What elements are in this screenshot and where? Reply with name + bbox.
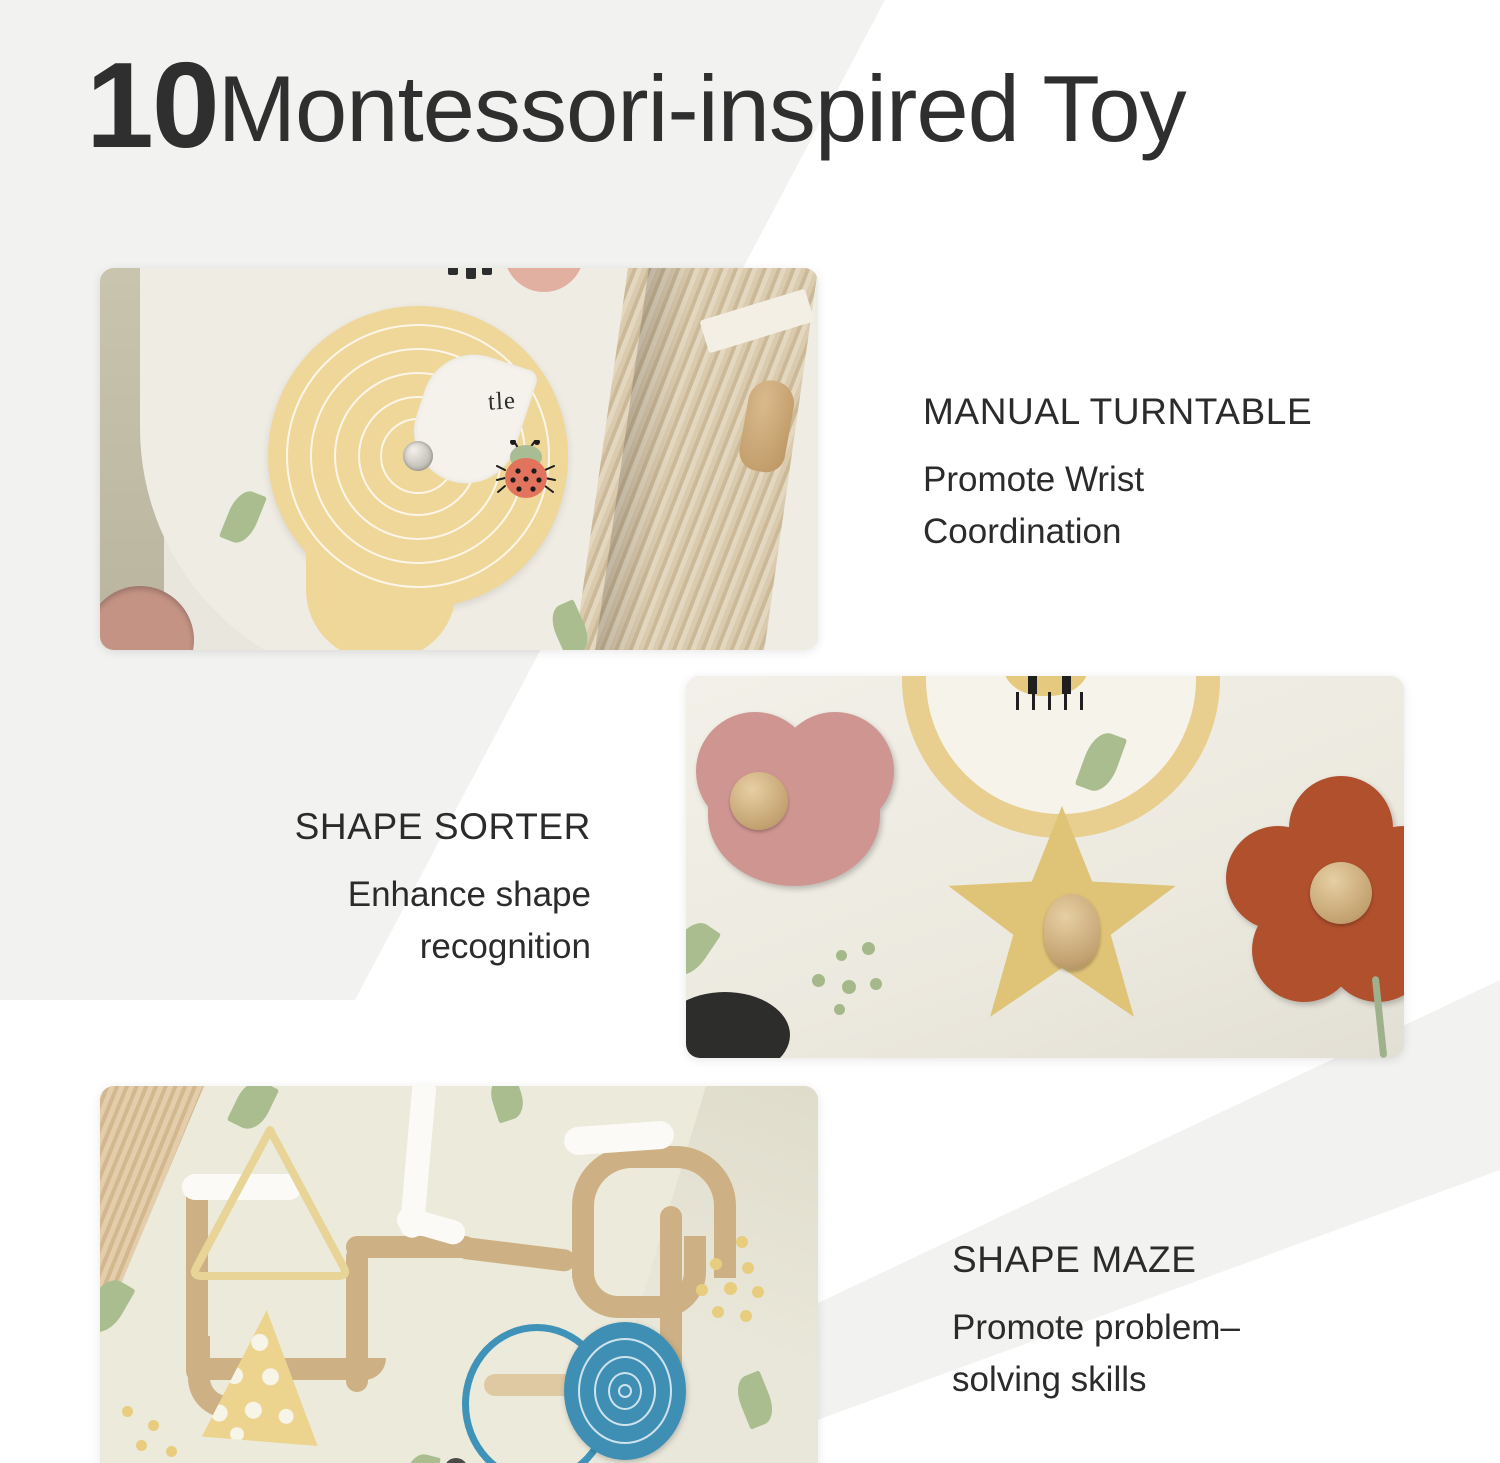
caption-manual-turntable: MANUAL TURNTABLE Promote Wrist Coordinat… xyxy=(923,390,1312,555)
bee-leg-4 xyxy=(1064,692,1067,710)
blue-spiral-disc-piece[interactable] xyxy=(564,1322,686,1460)
page-title-words: Montessori-inspired Toy xyxy=(218,56,1186,161)
bee-leg-5 xyxy=(1080,692,1083,710)
triangle-outline-icon xyxy=(186,1122,354,1282)
photo-turntable: tle xyxy=(100,268,818,650)
caption-heading: SHAPE SORTER xyxy=(246,805,591,849)
page-title-number: 10 xyxy=(86,37,218,173)
caption-subtitle-line2: solving skills xyxy=(952,1356,1240,1403)
caption-heading: MANUAL TURNTABLE xyxy=(923,390,1312,434)
green-dots-cluster xyxy=(812,934,908,1010)
caption-subtitle-line1: Promote Wrist xyxy=(923,456,1312,503)
caption-subtitle-line2: Coordination xyxy=(923,508,1312,555)
star-peg-icon[interactable] xyxy=(1044,894,1100,970)
caption-heading: SHAPE MAZE xyxy=(952,1238,1240,1282)
heart-peg-icon[interactable] xyxy=(730,772,788,830)
caption-subtitle-line2: recognition xyxy=(246,923,591,970)
flower-peg-icon[interactable] xyxy=(1310,862,1372,924)
caption-subtitle-line1: Enhance shape xyxy=(246,871,591,918)
turntable-word-label: tle xyxy=(487,387,516,416)
caption-shape-sorter: SHAPE SORTER Enhance shape recognition xyxy=(246,805,591,970)
heart-shape-piece[interactable] xyxy=(696,712,894,896)
page-title: 10Montessori-inspired Toy xyxy=(86,44,1186,166)
yellow-dots-cluster-right xyxy=(692,1236,772,1326)
blue-ring-4 xyxy=(618,1384,632,1398)
caption-shape-maze: SHAPE MAZE Promote problem– solving skil… xyxy=(952,1238,1240,1403)
turntable-pivot-icon[interactable] xyxy=(403,441,433,471)
photo-shape-maze xyxy=(100,1086,818,1463)
black-dots-top xyxy=(448,268,538,288)
photo-shape-sorter xyxy=(686,676,1404,1058)
infographic-stage: 10Montessori-inspired Toy tle xyxy=(0,0,1500,1463)
bee-leg-3 xyxy=(1048,692,1051,710)
bee-leg-1 xyxy=(1016,692,1019,710)
ladybug-icon xyxy=(496,440,558,502)
caption-subtitle-line1: Promote problem– xyxy=(952,1304,1240,1351)
bee-leg-2 xyxy=(1032,692,1035,710)
yellow-dots-cluster-bottom xyxy=(122,1406,202,1463)
